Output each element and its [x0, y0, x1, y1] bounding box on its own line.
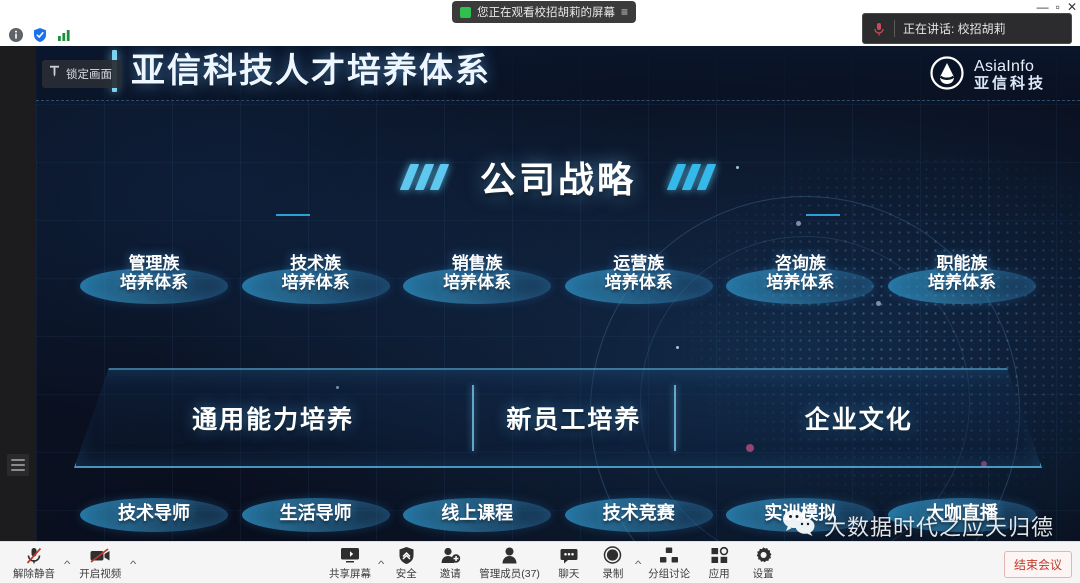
toolbar-center-group: 共享屏幕 ^ 安全 邀请 管理成员(37) [322, 545, 785, 582]
microphone-active-icon [872, 21, 886, 37]
career-track-pill[interactable]: 运营族培养体系 [565, 268, 713, 304]
slash-decoration-left [405, 164, 444, 190]
career-track-label: 技术族培养体系 [242, 254, 390, 292]
program-pill[interactable]: 线上课程 [403, 498, 551, 532]
program-pill[interactable]: 生活导师 [242, 498, 390, 532]
apps-button[interactable]: 应用 [697, 545, 741, 582]
slide-title-group: 亚信科技人才培养体系 [112, 50, 491, 92]
breakout-rooms-button[interactable]: 分组讨论 [641, 545, 697, 582]
program-label: 技术导师 [80, 503, 228, 523]
unmute-label: 解除静音 [13, 566, 55, 581]
participants-icon [499, 546, 520, 565]
presentation-slide: 亚信科技人才培养体系 AsiaInfo 亚信科技 [36, 46, 1080, 541]
career-track-row: 管理族培养体系 技术族培养体系 销售族培养体系 运营族培养体系 咨询族培养体系 … [80, 268, 1036, 304]
manage-participants-button[interactable]: 管理成员(37) [472, 545, 547, 582]
brand-name-cn: 亚信科技 [974, 76, 1046, 92]
brand-text-group: AsiaInfo 亚信科技 [974, 59, 1046, 92]
left-rail [0, 46, 36, 541]
signal-bars-icon[interactable] [56, 27, 72, 43]
zoom-meeting-window: 您正在观看校招胡莉的屏幕 ≡ — ▫ ✕ 正在讲话: 校招胡莉 [0, 0, 1080, 583]
program-pill[interactable]: 技术导师 [80, 498, 228, 532]
record-options-caret[interactable]: ^ [635, 559, 641, 582]
security-shield-icon [398, 546, 415, 565]
career-track-pill[interactable]: 管理族培养体系 [80, 268, 228, 304]
brand-name-en: AsiaInfo [974, 59, 1046, 76]
career-track-pill[interactable]: 咨询族培养体系 [726, 268, 874, 304]
screen-share-menu-icon[interactable]: ≡ [621, 5, 629, 19]
slash-decoration-right [672, 164, 711, 190]
brand-logo-group: AsiaInfo 亚信科技 [929, 55, 1046, 96]
speaker-divider [894, 20, 895, 37]
active-speaker-banner[interactable]: 正在讲话: 校招胡莉 [862, 13, 1072, 44]
chat-label: 聊天 [558, 566, 579, 581]
foundation-item: 企业文化 [676, 368, 1042, 468]
settings-button[interactable]: 设置 [741, 545, 785, 582]
career-track-label: 管理族培养体系 [80, 254, 228, 292]
breakout-rooms-label: 分组讨论 [648, 566, 690, 581]
career-track-label: 运营族培养体系 [565, 254, 713, 292]
slide-title: 亚信科技人才培养体系 [131, 54, 491, 88]
strategy-row: 公司战略 [36, 151, 1080, 203]
slash-tail-left [276, 214, 310, 216]
window-controls: — ▫ ✕ [1037, 1, 1077, 13]
lock-screen-button[interactable]: 锁定画面 [42, 60, 122, 88]
screen-share-banner[interactable]: 您正在观看校招胡莉的屏幕 ≡ [452, 1, 636, 23]
strategy-title: 公司战略 [480, 151, 636, 203]
share-screen-icon [339, 546, 361, 565]
info-icon[interactable] [8, 27, 24, 43]
foundation-item: 通用能力培养 [74, 368, 472, 468]
chat-button[interactable]: 聊天 [547, 545, 591, 582]
list-menu-icon[interactable] [7, 454, 29, 476]
manage-participants-label: 管理成员(37) [479, 566, 540, 581]
security-button[interactable]: 安全 [384, 545, 428, 582]
career-track-pill[interactable]: 销售族培养体系 [403, 268, 551, 304]
program-label: 生活导师 [242, 503, 390, 523]
chat-bubble-icon [559, 546, 579, 565]
spark-decoration [676, 346, 679, 349]
invite-label: 邀请 [440, 566, 461, 581]
end-meeting-button[interactable]: 结束会议 [1004, 551, 1072, 578]
record-button[interactable]: 录制 [591, 545, 635, 582]
start-video-button[interactable]: 开启视频 [72, 545, 128, 582]
toolbar-left-group: 解除静音 ^ 开启视频 ^ [6, 545, 136, 582]
apps-icon [710, 546, 729, 565]
foundation-band-content: 通用能力培养 新员工培养 企业文化 [74, 368, 1042, 468]
security-label: 安全 [396, 566, 417, 581]
career-track-label: 销售族培养体系 [403, 254, 551, 292]
slash-tail-right [806, 214, 840, 216]
program-pill[interactable]: 技术竞赛 [565, 498, 713, 532]
unmute-button[interactable]: 解除静音 [6, 545, 62, 582]
breakout-rooms-icon [659, 546, 679, 565]
shield-icon[interactable] [32, 27, 48, 43]
share-screen-label: 共享屏幕 [329, 566, 371, 581]
share-screen-button[interactable]: 共享屏幕 [322, 545, 378, 582]
invite-person-icon [440, 546, 461, 565]
active-speaker-text: 正在讲话: 校招胡莉 [903, 20, 1006, 37]
maximize-icon[interactable]: ▫ [1056, 1, 1060, 13]
invite-button[interactable]: 邀请 [428, 545, 472, 582]
close-icon[interactable]: ✕ [1067, 1, 1077, 13]
meeting-toolbar: 解除静音 ^ 开启视频 ^ 共享屏幕 ^ [0, 541, 1080, 583]
asiainfo-droplet-logo [929, 55, 965, 96]
video-options-caret[interactable]: ^ [130, 559, 136, 582]
career-track-label: 职能族培养体系 [888, 254, 1036, 292]
wechat-icon [782, 509, 816, 541]
microphone-muted-icon [25, 546, 43, 565]
wechat-watermark: 大数据时代之应天归德 [782, 509, 1054, 541]
watermark-text: 大数据时代之应天归德 [824, 510, 1054, 542]
lock-screen-label: 锁定画面 [66, 66, 112, 82]
shared-screen-stage: 亚信科技人才培养体系 AsiaInfo 亚信科技 [0, 46, 1080, 541]
pin-icon [49, 65, 60, 83]
program-label: 技术竞赛 [565, 503, 713, 523]
screen-share-banner-text: 您正在观看校招胡莉的屏幕 [477, 4, 615, 20]
career-track-label: 咨询族培养体系 [726, 254, 874, 292]
program-label: 线上课程 [403, 503, 551, 523]
audio-options-caret[interactable]: ^ [64, 559, 70, 582]
share-options-caret[interactable]: ^ [378, 559, 384, 582]
start-video-label: 开启视频 [79, 566, 121, 581]
spark-decoration [796, 221, 801, 226]
screen-share-green-icon [460, 7, 471, 18]
gear-icon [754, 546, 773, 565]
career-track-pill[interactable]: 职能族培养体系 [888, 268, 1036, 304]
video-off-icon [89, 546, 111, 565]
record-circle-icon [603, 546, 622, 565]
minimize-icon[interactable]: — [1037, 1, 1049, 13]
settings-label: 设置 [753, 566, 774, 581]
foundation-item: 新员工培养 [474, 368, 673, 468]
apps-label: 应用 [709, 566, 730, 581]
record-label: 录制 [602, 566, 623, 581]
career-track-pill[interactable]: 技术族培养体系 [242, 268, 390, 304]
